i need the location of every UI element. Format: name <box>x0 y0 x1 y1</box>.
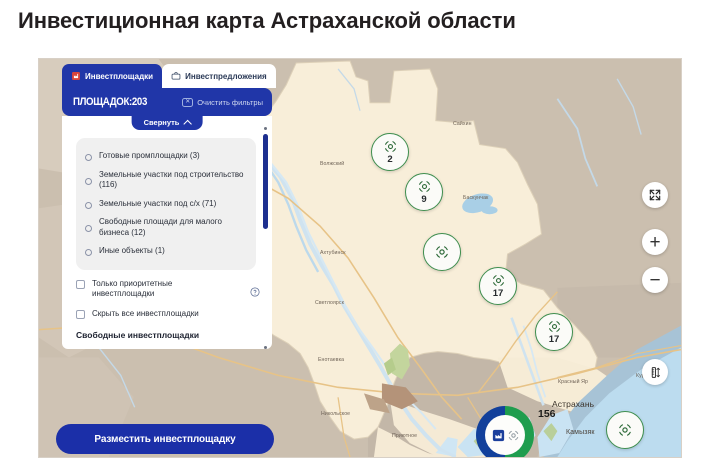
checkbox-row-hide-all[interactable]: Скрыть все инвестплощадки <box>76 309 256 320</box>
filter-option-label: Иные объекты (1) <box>99 246 165 257</box>
map-marker-cluster[interactable]: 17 <box>535 313 573 351</box>
close-box-icon: ✕ <box>182 98 193 107</box>
map-marker-cluster[interactable]: 17 <box>479 267 517 305</box>
collapse-label: Свернуть <box>144 118 180 127</box>
plus-icon: + <box>649 233 660 252</box>
map-label-town: Красный Яр <box>558 379 588 385</box>
minus-icon: − <box>649 271 660 290</box>
panel-scrollbar-thumb[interactable] <box>263 134 268 229</box>
collapse-button[interactable]: Свернуть <box>132 116 203 130</box>
radio-icon[interactable] <box>85 249 92 256</box>
expand-icon <box>648 188 662 202</box>
chevron-up-icon <box>183 119 191 127</box>
marker-count: 2 <box>387 155 392 165</box>
platform-count: ПЛОЩАДОК:203 <box>73 96 147 108</box>
filter-option-row[interactable]: Готовые промплощадки (3) <box>85 147 246 166</box>
marker-count: 17 <box>493 289 504 299</box>
filter-option-row[interactable]: Земельные участки под строительство (116… <box>85 166 246 195</box>
clear-filters-label: Очистить фильтры <box>197 98 263 107</box>
filter-option-label: Свободные площади для малого бизнеса (12… <box>99 217 246 238</box>
donut-hole <box>485 415 525 455</box>
filter-option-row[interactable]: Иные объекты (1) <box>85 242 246 261</box>
tab-investpredlozheniya[interactable]: Инвестпредложения <box>162 64 276 88</box>
panel-count-bar: ПЛОЩАДОК:203 ✕ Очистить фильтры Свернуть <box>62 88 272 116</box>
checkbox-row-priority[interactable]: Только приоритетные инвестплощадки <box>76 279 256 300</box>
page-title: Инвестиционная карта Астраханской област… <box>18 8 516 34</box>
filter-option-row[interactable]: Свободные площади для малого бизнеса (12… <box>85 213 246 242</box>
filter-option-label: Земельные участки под строительство (116… <box>99 170 246 191</box>
target-icon <box>383 139 398 154</box>
map-label-town: Светлоярск <box>315 300 344 306</box>
map-label-city: Камызяк <box>566 429 595 436</box>
map-label-town: Приютное <box>392 433 417 439</box>
factory-icon <box>71 71 81 81</box>
radio-icon[interactable] <box>85 154 92 161</box>
map-label-town: Баскунчак <box>463 195 488 201</box>
target-icon <box>434 244 450 260</box>
briefcase-icon <box>171 71 181 81</box>
target-icon <box>617 422 633 438</box>
filter-panel: Инвестплощадки Инвестпредложения ПЛОЩАДО… <box>62 64 272 349</box>
tab-investplowadki[interactable]: Инвестплощадки <box>62 64 162 88</box>
marker-count: 9 <box>421 195 426 205</box>
zoom-in-button[interactable]: + <box>642 229 668 255</box>
factory-icon <box>491 428 506 443</box>
panel-tabs: Инвестплощадки Инвестпредложения <box>62 64 272 88</box>
tab-label: Инвестплощадки <box>85 72 153 81</box>
target-icon <box>491 273 506 288</box>
map-marker-donut-cluster[interactable]: 156 <box>476 406 534 458</box>
target-icon <box>417 179 432 194</box>
map-marker-cluster[interactable]: 2 <box>371 133 409 171</box>
map-label-town: Никольское <box>321 411 350 417</box>
checkbox-label: Только приоритетные инвестплощадки <box>92 279 212 300</box>
map-label-town: Ахтубинск <box>320 250 346 256</box>
radio-icon[interactable] <box>85 202 92 209</box>
tab-label: Инвестпредложения <box>185 72 267 81</box>
scroll-arrow-up-icon[interactable] <box>264 127 267 130</box>
section-heading: Свободные инвестплощадки <box>76 330 256 340</box>
donut-cluster-count: 156 <box>538 408 556 420</box>
fullscreen-button[interactable] <box>642 182 668 208</box>
radio-icon[interactable] <box>85 178 92 185</box>
target-icon <box>507 429 520 442</box>
measure-button[interactable] <box>642 359 668 385</box>
zoom-out-button[interactable]: − <box>642 267 668 293</box>
map-label-town: Волжский <box>320 161 344 167</box>
checkbox-icon[interactable] <box>76 280 85 289</box>
ruler-icon <box>649 366 662 379</box>
target-icon <box>547 319 562 334</box>
panel-body: Готовые промплощадки (3) Земельные участ… <box>62 116 272 349</box>
radio-icon[interactable] <box>85 225 92 232</box>
clear-filters-button[interactable]: ✕ Очистить фильтры <box>182 98 263 107</box>
help-icon[interactable] <box>250 287 260 297</box>
place-investment-site-button[interactable]: Разместить инвестплощадку <box>56 424 274 454</box>
panel-scrollbar[interactable] <box>263 134 268 342</box>
scroll-arrow-down-icon[interactable] <box>264 346 267 349</box>
page-root: Инвестиционная карта Астраханской област… <box>0 0 720 472</box>
map-marker-cluster[interactable]: 9 <box>405 173 443 211</box>
checkbox-label: Скрыть все инвестплощадки <box>92 309 199 320</box>
map-marker-single[interactable] <box>606 411 644 449</box>
filter-option-label: Земельные участки под с/х (71) <box>99 199 216 210</box>
filter-option-label: Готовые промплощадки (3) <box>99 151 200 162</box>
map-marker-single[interactable] <box>423 233 461 271</box>
map-label-town: Енотаевка <box>318 357 344 363</box>
filter-options-card: Готовые промплощадки (3) Земельные участ… <box>76 138 256 270</box>
map-label-city: Астрахань <box>552 399 594 409</box>
filter-option-row[interactable]: Земельные участки под с/х (71) <box>85 195 246 214</box>
marker-count: 17 <box>549 335 560 345</box>
checkbox-icon[interactable] <box>76 310 85 319</box>
map-label-town: Сайхин <box>453 121 472 127</box>
map-label-town: Иван-Буден <box>295 457 324 458</box>
